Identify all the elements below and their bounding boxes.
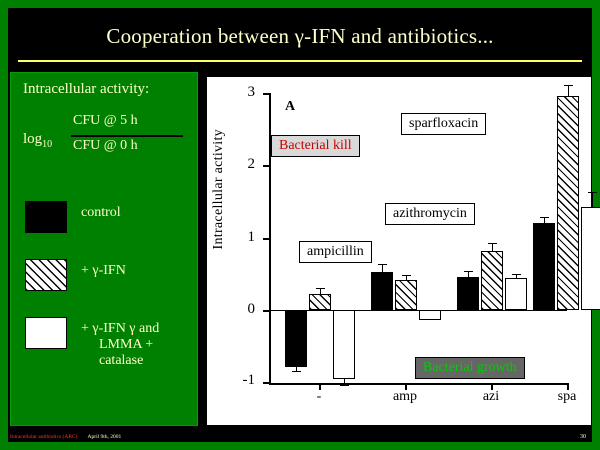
annotation-sparfloxacin: sparfloxacin xyxy=(401,113,486,135)
bar-ifnlmma-amp xyxy=(419,310,441,320)
y-tick-label-3: 3 xyxy=(229,84,255,101)
legend-swatch-white xyxy=(25,317,67,349)
y-tick-label-2: 2 xyxy=(229,156,255,173)
errorcap-ifn-none xyxy=(316,288,325,289)
x-tick-label-spa: spa xyxy=(549,389,585,405)
x-tick-label-azi: azi xyxy=(473,389,509,405)
annotation-ampicillin: ampicillin xyxy=(299,241,372,263)
errorcap-control-none xyxy=(292,371,301,372)
bar-ifnlmma-none xyxy=(333,310,355,379)
errorcap-control-amp xyxy=(378,264,387,265)
x-tick-label-amp: amp xyxy=(387,389,423,405)
footer-note: Intracellular antibiotics (ARC)April 9th… xyxy=(10,434,121,440)
legend-label-ifn-lmma-line1: + γ-IFN γ and xyxy=(81,321,159,336)
formula-denominator: CFU @ 0 h xyxy=(73,138,138,154)
slide-number: 30 xyxy=(580,434,586,440)
y-tick-label-minus1: -1 xyxy=(229,372,255,389)
errorcap-ifn-azi xyxy=(488,243,497,244)
panel-letter-a: A xyxy=(285,99,295,115)
legend-panel: Intracellular activity: log10 CFU @ 5 h … xyxy=(10,72,198,426)
title-divider xyxy=(18,60,582,62)
y-tick-3 xyxy=(263,93,271,95)
bar-control-none xyxy=(285,310,307,367)
legend-label-ifn-lmma: + γ-IFN γ and LMMA + catalase xyxy=(81,321,159,369)
legend-swatch-black xyxy=(25,201,67,233)
bar-ifn-azi xyxy=(481,251,503,310)
y-tick-1 xyxy=(263,238,271,240)
formula-numerator: CFU @ 5 h xyxy=(73,113,138,129)
frame-border-bottom xyxy=(0,442,600,450)
legend-label-control: control xyxy=(81,205,121,221)
slide: Cooperation between γ-IFN and antibiotic… xyxy=(0,0,600,450)
y-tick-2 xyxy=(263,165,271,167)
bar-control-amp xyxy=(371,272,393,310)
y-tick-minus1 xyxy=(263,382,271,384)
annotation-azithromycin: azithromycin xyxy=(385,203,475,225)
y-tick-label-1: 1 xyxy=(229,229,255,246)
slide-title: Cooperation between γ-IFN and antibiotic… xyxy=(0,24,600,49)
legend-label-ifn-lmma-line3: catalase xyxy=(99,353,159,369)
frame-border-left xyxy=(0,0,8,450)
formula-log: log10 xyxy=(23,131,52,150)
errorcap-ifnlmma-azi xyxy=(512,274,521,275)
annotation-bacterial-kill: Bacterial kill xyxy=(271,135,360,157)
errorcap-ifn-spa xyxy=(564,85,573,86)
legend-swatch-hatched xyxy=(25,259,67,291)
bar-ifnlmma-azi xyxy=(505,278,527,310)
y-tick-label-0: 0 xyxy=(229,301,255,318)
x-tick-label-none: - xyxy=(301,389,337,405)
y-axis-label: Intracellular activity xyxy=(211,129,227,250)
legend-label-ifn: + γ-IFN xyxy=(81,263,126,279)
errorcap-ifnlmma-none xyxy=(340,385,349,386)
legend-label-ifn-lmma-line2: LMMA + xyxy=(99,337,159,353)
footer-date: April 9th, 2001 xyxy=(88,434,122,440)
errorcap-ifn-amp xyxy=(402,275,411,276)
errorbar-ifnlmma-spa xyxy=(592,192,593,207)
errorcap-ifnlmma-spa xyxy=(588,192,597,193)
frame-border-top xyxy=(0,0,600,8)
errorbar-ifn-spa xyxy=(568,85,569,96)
errorcap-control-azi xyxy=(464,271,473,272)
bar-ifn-amp xyxy=(395,280,417,310)
formula-block: log10 CFU @ 5 h CFU @ 0 h xyxy=(21,111,191,167)
bar-ifn-none xyxy=(309,294,331,310)
bar-ifnlmma-spa xyxy=(581,207,600,310)
errorbar-ifn-azi xyxy=(492,243,493,251)
formula-fraction-bar xyxy=(71,135,183,137)
chart-panel: Intracellular activity 3 2 1 0 -1 A xyxy=(206,76,592,426)
errorcap-control-spa xyxy=(540,217,549,218)
errorbar-control-amp xyxy=(382,264,383,272)
bar-control-spa xyxy=(533,223,555,310)
bar-ifn-spa xyxy=(557,96,579,310)
legend-heading: Intracellular activity: xyxy=(23,81,149,98)
annotation-bacterial-growth: Bacterial growth xyxy=(415,357,525,379)
footer-source: Intracellular antibiotics (ARC) xyxy=(10,434,78,440)
y-tick-0 xyxy=(263,310,271,312)
bar-control-azi xyxy=(457,277,479,310)
